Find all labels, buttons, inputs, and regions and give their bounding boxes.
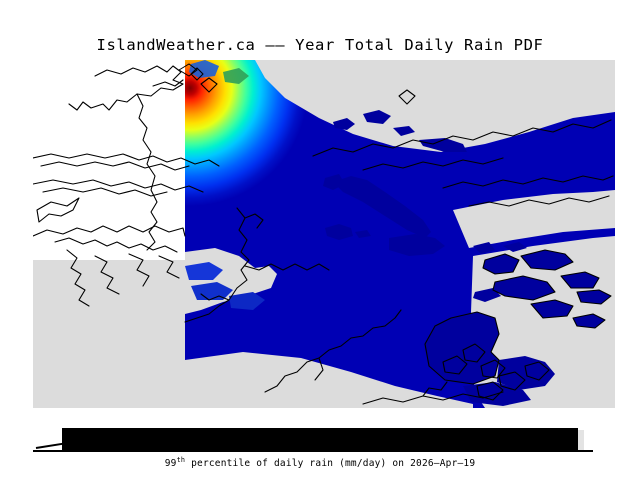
colorbar-caption: 99th percentile of daily rain (mm/day) o…	[0, 458, 640, 469]
map-panel[interactable]	[33, 60, 615, 408]
caption-percentile-suffix: th	[177, 456, 186, 464]
page-title: IslandWeather.ca —— Year Total Daily Rai…	[0, 36, 640, 54]
rain-heatmap[interactable]	[33, 60, 615, 408]
colorbar-max-edge	[578, 430, 584, 450]
colorbar-axis-line	[33, 450, 593, 452]
colorbar-gradient	[62, 428, 578, 452]
colorbar[interactable]	[33, 420, 615, 456]
caption-percentile-number: 99	[165, 458, 177, 469]
caption-text: percentile of daily rain (mm/day) on 202…	[185, 458, 475, 469]
